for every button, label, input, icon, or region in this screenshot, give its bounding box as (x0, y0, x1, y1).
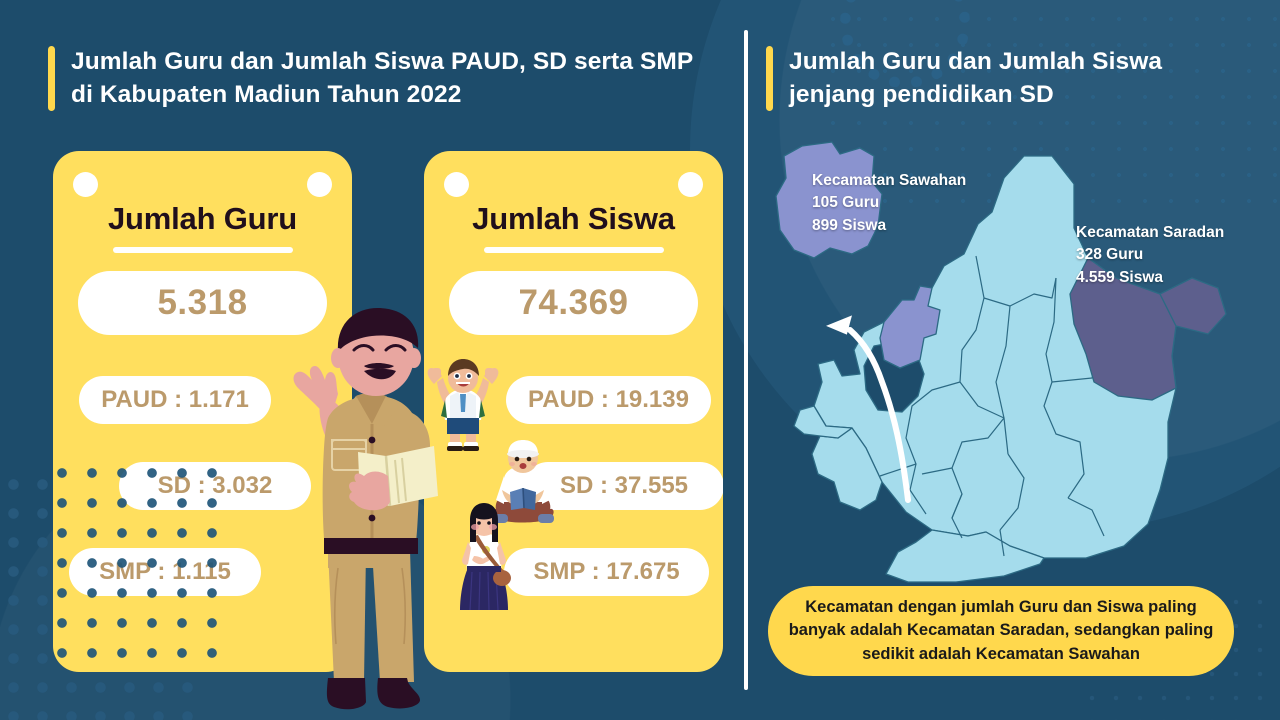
card-guru-breakdown-sd-label: SD : 3.032 (158, 472, 273, 500)
stat-card-siswa: Jumlah Siswa 74.369 PAUD : 19.139 SD : 3… (424, 151, 723, 672)
card-guru-breakdown-smp: SMP : 1.115 (69, 548, 261, 596)
card-punch-hole-icon (307, 172, 332, 197)
card-guru-breakdown-smp-label: SMP : 1.115 (99, 558, 231, 586)
map-label-sawahan-region: Kecamatan Sawahan (812, 170, 966, 192)
title-accent-bar (766, 46, 773, 111)
card-guru-total-pill: 5.318 (78, 271, 327, 335)
panel-divider (744, 30, 748, 690)
card-guru-total-value: 5.318 (157, 283, 247, 323)
map-label-saradan-region: Kecamatan Saradan (1076, 222, 1224, 244)
card-guru-breakdown-paud-label: PAUD : 1.171 (101, 386, 249, 414)
title-accent-bar (48, 46, 55, 111)
summary-callout: Kecamatan dengan jumlah Guru dan Siswa p… (768, 586, 1234, 676)
map-label-sawahan: Kecamatan Sawahan 105 Guru 899 Siswa (812, 170, 966, 237)
card-siswa-breakdown-sd: SD : 37.555 (524, 462, 723, 510)
card-siswa-breakdown-smp: SMP : 17.675 (504, 548, 709, 596)
card-punch-hole-icon (444, 172, 469, 197)
card-siswa-total-value: 74.369 (518, 283, 628, 323)
map-label-saradan-siswa: 4.559 Siswa (1076, 267, 1224, 289)
card-siswa-title: Jumlah Siswa (424, 201, 723, 237)
card-title-underline (113, 247, 293, 253)
map-label-saradan-guru: 328 Guru (1076, 244, 1224, 266)
card-guru-breakdown-paud: PAUD : 1.171 (79, 376, 271, 424)
card-guru-title: Jumlah Guru (53, 201, 352, 237)
map-label-sawahan-guru: 105 Guru (812, 192, 966, 214)
card-siswa-total-pill: 74.369 (449, 271, 698, 335)
right-panel-title: Jumlah Guru dan Jumlah Siswa jenjang pen… (766, 46, 1236, 111)
card-siswa-breakdown-paud-label: PAUD : 19.139 (528, 386, 689, 414)
card-siswa-breakdown-smp-label: SMP : 17.675 (533, 558, 679, 586)
card-guru-breakdown-sd: SD : 3.032 (119, 462, 311, 510)
summary-callout-text: Kecamatan dengan jumlah Guru dan Siswa p… (788, 596, 1214, 666)
map-label-saradan: Kecamatan Saradan 328 Guru 4.559 Siswa (1076, 222, 1224, 289)
card-siswa-breakdown-sd-label: SD : 37.555 (560, 472, 688, 500)
card-siswa-breakdown-paud: PAUD : 19.139 (506, 376, 711, 424)
left-panel-title: Jumlah Guru dan Jumlah Siswa PAUD, SD se… (48, 46, 708, 111)
stat-card-guru: Jumlah Guru 5.318 PAUD : 1.171 SD : 3.03… (53, 151, 352, 672)
infographic-canvas: Jumlah Guru dan Jumlah Siswa PAUD, SD se… (0, 0, 1280, 720)
card-punch-hole-icon (73, 172, 98, 197)
card-title-underline (484, 247, 664, 253)
right-panel-title-text: Jumlah Guru dan Jumlah Siswa jenjang pen… (789, 46, 1236, 111)
map-label-sawahan-siswa: 899 Siswa (812, 215, 966, 237)
left-panel-title-text: Jumlah Guru dan Jumlah Siswa PAUD, SD se… (71, 46, 708, 111)
card-punch-hole-icon (678, 172, 703, 197)
